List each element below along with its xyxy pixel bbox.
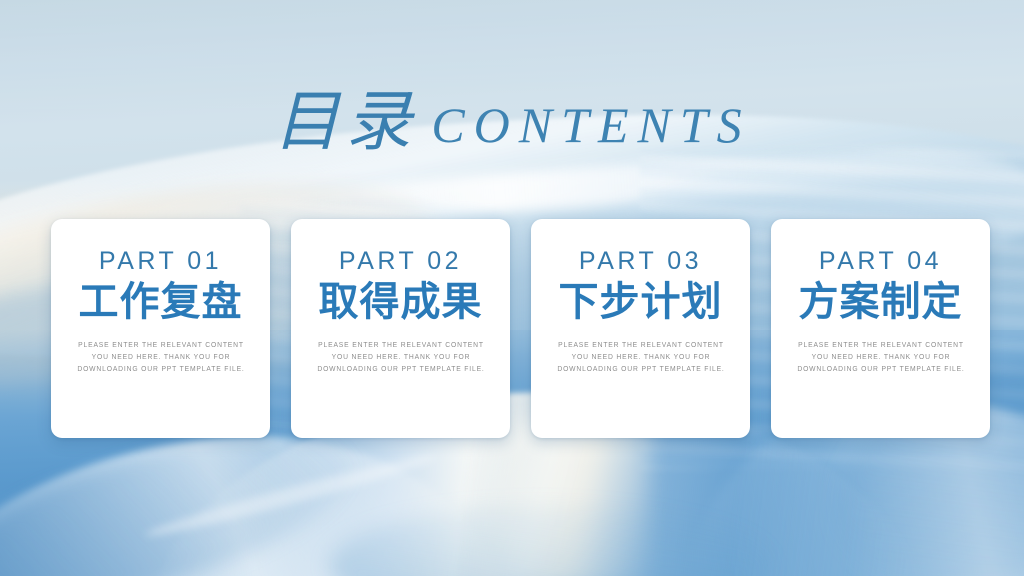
part-description: PLEASE ENTER THE RELEVANT CONTENT YOU NE… (548, 339, 732, 375)
part-label: PART 03 (579, 249, 702, 274)
part-title: 取得成果 (319, 280, 483, 325)
contents-card-list: PART 01 工作复盘 PLEASE ENTER THE RELEVANT C… (51, 219, 990, 438)
contents-card-part-04[interactable]: PART 04 方案制定 PLEASE ENTER THE RELEVANT C… (771, 219, 990, 438)
part-title: 下步计划 (559, 280, 723, 325)
contents-card-part-02[interactable]: PART 02 取得成果 PLEASE ENTER THE RELEVANT C… (291, 219, 510, 438)
part-description: PLEASE ENTER THE RELEVANT CONTENT YOU NE… (68, 339, 252, 375)
part-title: 方案制定 (799, 280, 963, 325)
part-description: PLEASE ENTER THE RELEVANT CONTENT YOU NE… (788, 339, 972, 375)
part-label: PART 04 (819, 249, 942, 274)
part-description: PLEASE ENTER THE RELEVANT CONTENT YOU NE… (308, 339, 492, 375)
part-label: PART 02 (339, 249, 462, 274)
page-title-chinese: 目录 (273, 90, 417, 156)
part-label: PART 01 (99, 249, 222, 274)
page-title-english: CONTENTS (425, 100, 750, 150)
page-title: 目录 CONTENTS (0, 86, 1024, 152)
presentation-slide: 目录 CONTENTS PART 01 工作复盘 PLEASE ENTER TH… (0, 0, 1024, 576)
contents-card-part-03[interactable]: PART 03 下步计划 PLEASE ENTER THE RELEVANT C… (531, 219, 750, 438)
contents-card-part-01[interactable]: PART 01 工作复盘 PLEASE ENTER THE RELEVANT C… (51, 219, 270, 438)
part-title: 工作复盘 (79, 280, 243, 325)
